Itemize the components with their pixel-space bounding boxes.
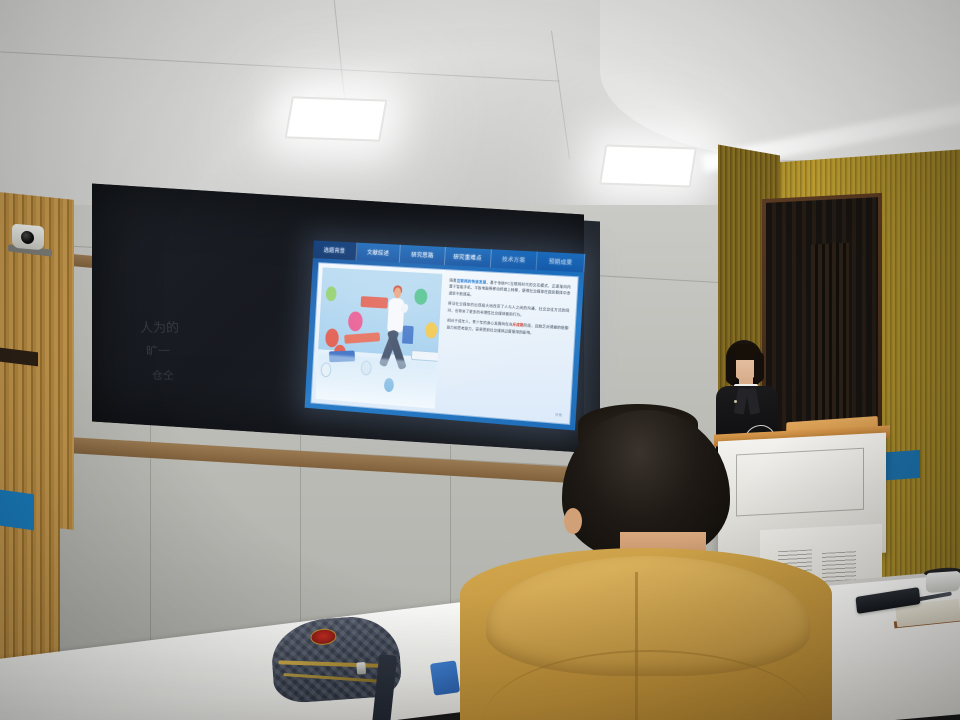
bag-zipper-pull (356, 662, 366, 675)
camera-lens-icon (21, 230, 34, 244)
presenter-hair-side (754, 352, 764, 382)
chalk-writing: 仓仝 (152, 368, 175, 385)
slide-tab-3[interactable]: 研究重难点 (445, 247, 492, 267)
seated-audience-member (470, 400, 830, 720)
slide-tab-0[interactable]: 选题背景 (313, 240, 357, 260)
running-person-social-media-illustration (315, 267, 442, 408)
slide-tab-4[interactable]: 技术方案 (491, 249, 539, 270)
ceiling-panel-light (285, 96, 388, 141)
ptz-security-camera-icon (12, 224, 44, 251)
ceiling-seam (551, 31, 570, 160)
slide-tab-5[interactable]: 预期成果 (537, 252, 585, 273)
chalk-writing: 人为的 (140, 318, 180, 338)
chalk-writing: 旷一 (146, 342, 171, 360)
slide-tab-1[interactable]: 文献综述 (356, 243, 401, 263)
checkered-sling-backpack[interactable] (269, 614, 402, 705)
blue-phone[interactable] (430, 660, 460, 695)
seated-ear (564, 508, 582, 534)
cup[interactable] (926, 571, 960, 593)
slide-text-column: 随着互联网的快速发展，基于传统PC互联网时代的交互模式，正逐渐向内置于智能手机、… (439, 274, 573, 419)
floor-reflection (315, 354, 437, 409)
presenter-hair-side (726, 352, 736, 384)
blue-accent-panel (0, 490, 34, 531)
ceiling-curve (600, 0, 960, 160)
ceiling-seam (0, 51, 559, 81)
lecture-hall-photo: 人为的 旷一 仓仝 选题背景 文献综述 研究思路 研究重难点 技术方案 预期成果 (0, 0, 960, 720)
ceiling-panel-light (599, 144, 697, 187)
slide-paragraph-1: 随着互联网的快速发展，基于传统PC互联网时代的交互模式，正逐渐向内置于智能手机、… (448, 277, 571, 304)
slide-tab-2[interactable]: 研究思路 (400, 245, 446, 265)
slide-paragraph-3: 相对于成年人，青少年的身心发展尚在充斥成熟阶段，且缺乏对诱惑的抵御能力和思考能力… (447, 318, 569, 339)
